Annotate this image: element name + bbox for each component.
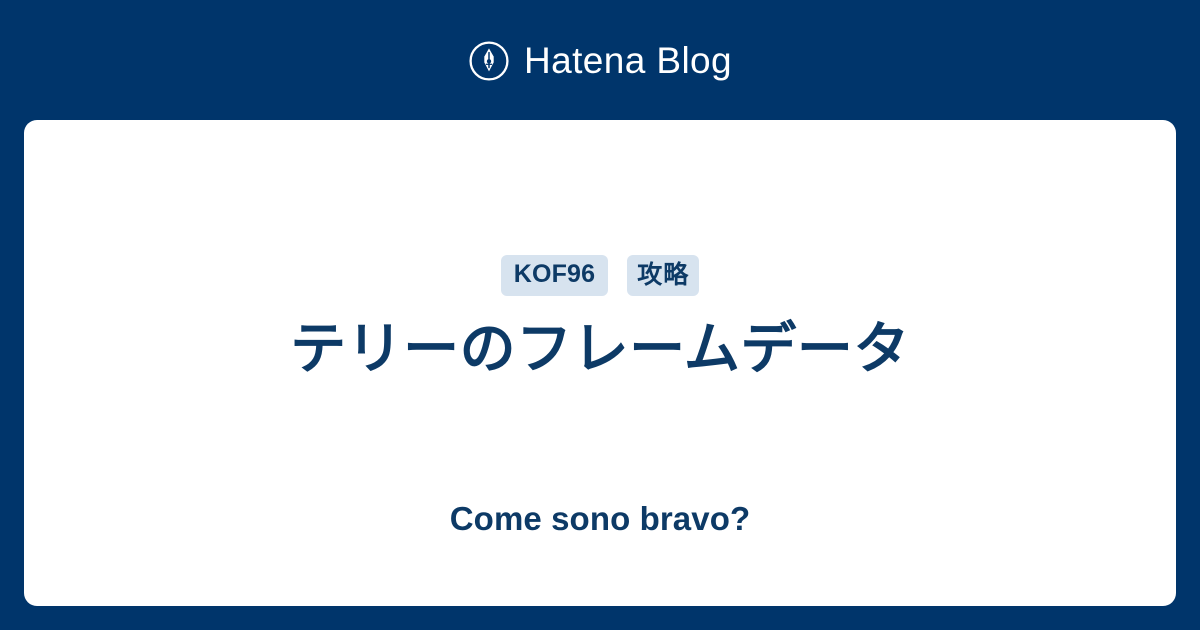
ogp-card-root: Hatena Blog KOF96 攻略 テリーのフレームデータ Come so… bbox=[0, 0, 1200, 630]
blog-name[interactable]: Come sono bravo? bbox=[24, 502, 1176, 535]
tag-kouryaku[interactable]: 攻略 bbox=[627, 255, 699, 296]
tag-kof96[interactable]: KOF96 bbox=[501, 255, 609, 296]
hatena-pen-nib-icon bbox=[468, 40, 510, 82]
entry-card: KOF96 攻略 テリーのフレームデータ Come sono bravo? bbox=[24, 120, 1176, 606]
entry-title[interactable]: テリーのフレームデータ bbox=[24, 316, 1176, 384]
hatena-blog-brand[interactable]: Hatena Blog bbox=[0, 0, 1200, 120]
tag-list: KOF96 攻略 bbox=[24, 255, 1176, 296]
hatena-blog-wordmark: Hatena Blog bbox=[524, 42, 732, 79]
